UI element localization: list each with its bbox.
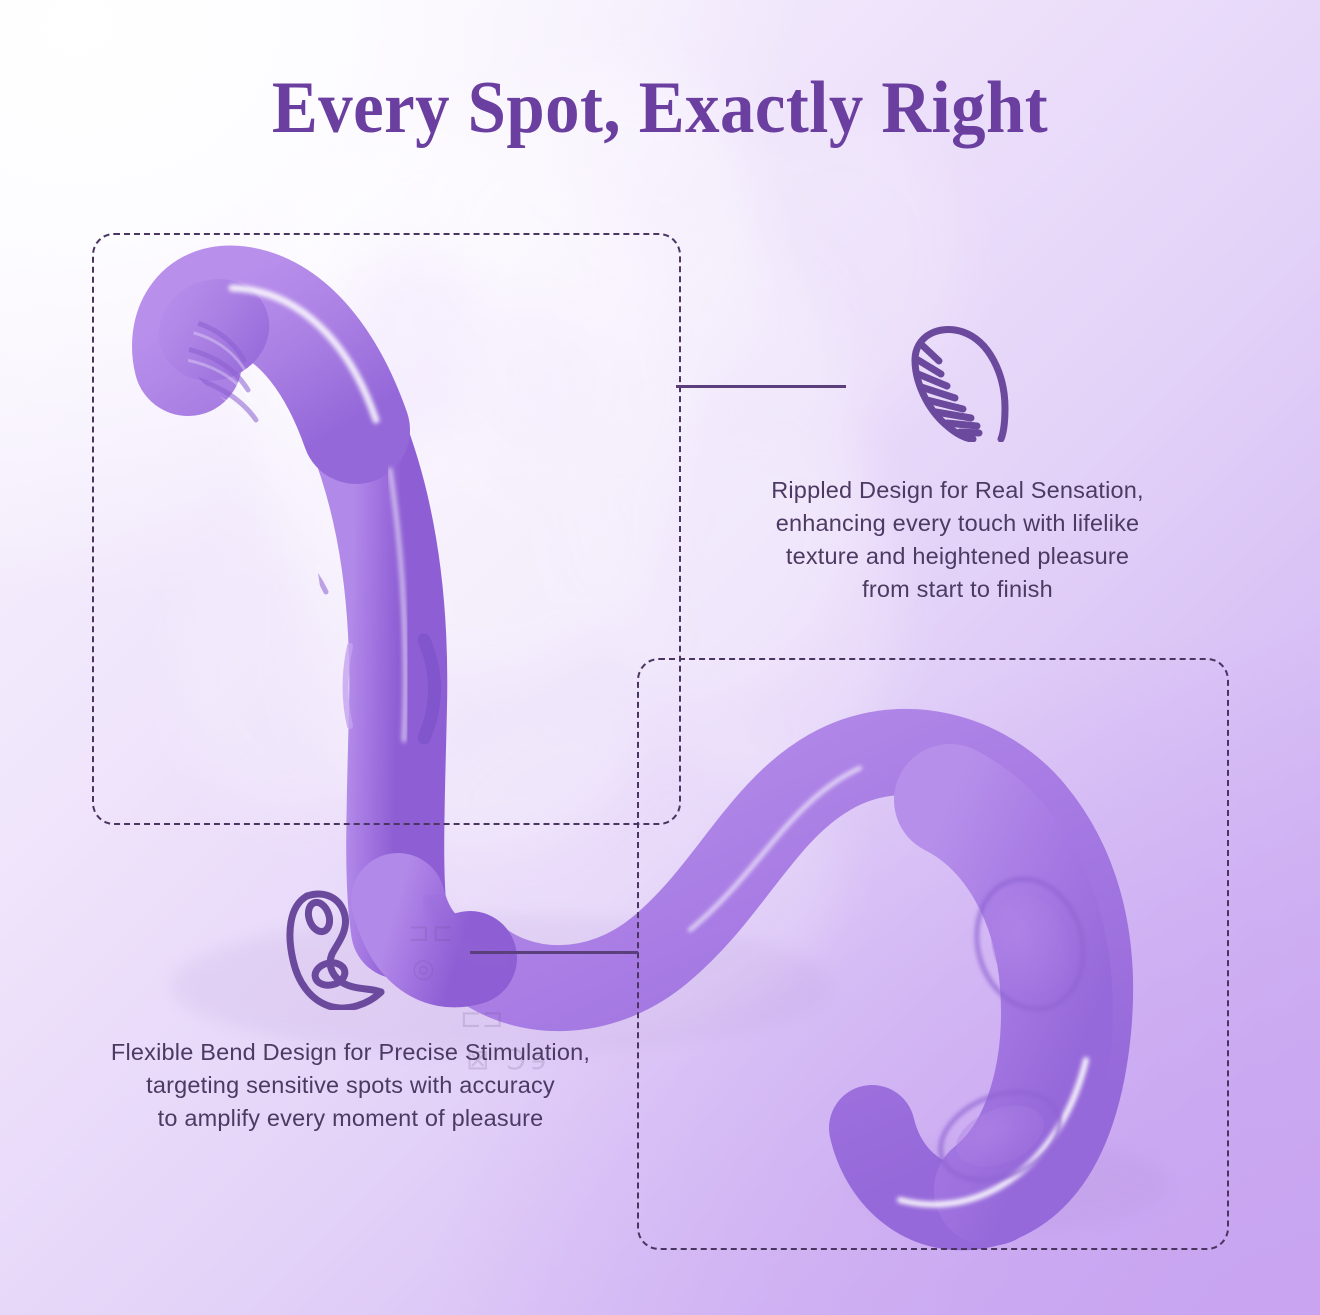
caption-line: enhancing every touch with lifelike (735, 507, 1180, 540)
page-title: Every Spot, Exactly Right (46, 66, 1274, 151)
flexible-bend-icon (277, 888, 407, 1010)
frame-ripple-feature (92, 233, 681, 825)
connector-line-ripple (676, 385, 846, 388)
caption-line: to amplify every moment of pleasure (78, 1102, 623, 1135)
caption-line: Flexible Bend Design for Precise Stimula… (78, 1036, 623, 1069)
caption-ripple-feature: Rippled Design for Real Sensation, enhan… (735, 474, 1180, 606)
caption-bend-feature: Flexible Bend Design for Precise Stimula… (78, 1036, 623, 1135)
marketing-banner: ⊐⊏ ◎ ⊏⊐ ⊠ Ɔ϶ Every Spot, Exactly Right (0, 0, 1320, 1315)
caption-line: targeting sensitive spots with accuracy (78, 1069, 623, 1102)
connector-line-bend (470, 951, 638, 954)
caption-line: texture and heightened pleasure (735, 540, 1180, 573)
caption-line: from start to finish (735, 573, 1180, 606)
frame-bend-feature (637, 658, 1229, 1250)
rippled-texture-icon (893, 312, 1023, 442)
caption-line: Rippled Design for Real Sensation, (735, 474, 1180, 507)
